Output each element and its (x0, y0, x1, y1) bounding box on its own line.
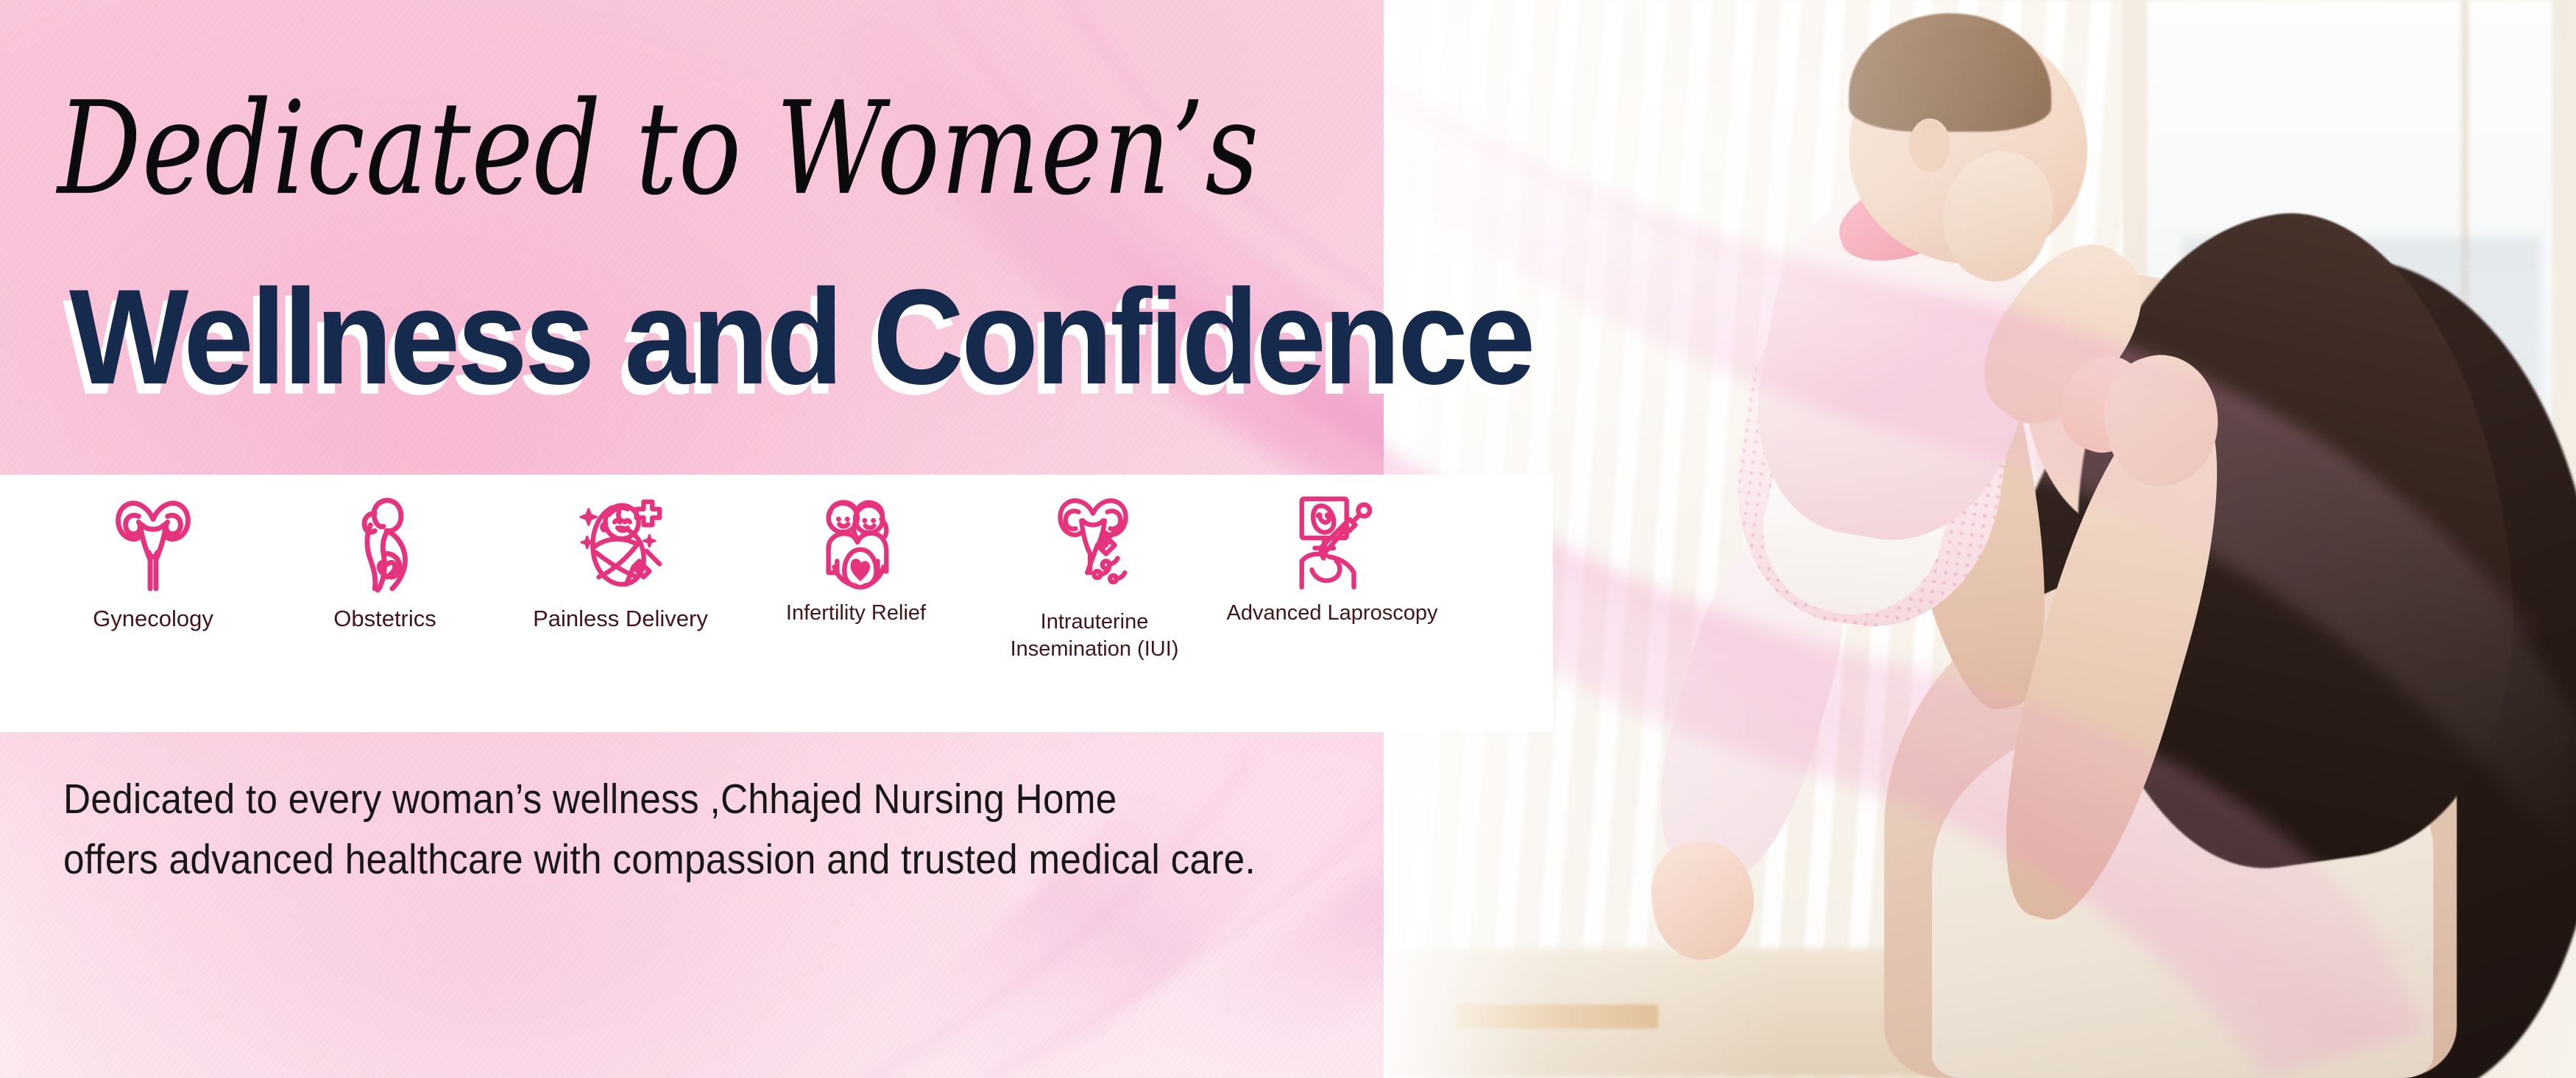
hero-photo-mother-and-baby (1384, 0, 2576, 1078)
service-item-gynecology[interactable]: Gynecology (32, 491, 275, 634)
service-label: Advanced Laproscopy (1227, 600, 1438, 627)
laparoscopy-monitor-icon (1289, 491, 1376, 594)
services-list: Gynecology Obstetrics (0, 475, 1472, 732)
uterus-ovaries-icon (110, 491, 197, 594)
photo-left-blend-haze (1384, 0, 2576, 1078)
uterus-syringe-icon (1051, 491, 1138, 594)
service-item-advanced-laproscopy[interactable]: Advanced Laproscopy (1211, 491, 1454, 627)
couple-with-heart-icon (813, 491, 899, 594)
service-item-infertility-relief[interactable]: Infertility Relief (735, 491, 977, 627)
service-label: Intrauterine Insemination (IUI) (1011, 609, 1179, 663)
hero-banner: Dedicated to Women’s Wellness and Confid… (0, 0, 2576, 1078)
service-item-obstetrics[interactable]: Obstetrics (263, 491, 506, 634)
service-label: Infertility Relief (786, 600, 926, 627)
service-label: Painless Delivery (533, 604, 708, 634)
swaddled-baby-medical-icon (577, 491, 664, 594)
service-label: Obstetrics (333, 604, 436, 634)
page-title: Wellness and Confidence (69, 269, 1532, 405)
tagline-text: Dedicated to every woman’s wellness ,Chh… (63, 770, 1256, 890)
service-label: Gynecology (93, 604, 213, 634)
service-item-iui[interactable]: Intrauterine Insemination (IUI) (973, 491, 1216, 663)
script-heading: Dedicated to Women’s (57, 85, 1259, 213)
pregnant-woman-icon (342, 491, 428, 594)
service-item-painless-delivery[interactable]: Painless Delivery (499, 491, 742, 634)
photo-scene (1384, 0, 2576, 1078)
